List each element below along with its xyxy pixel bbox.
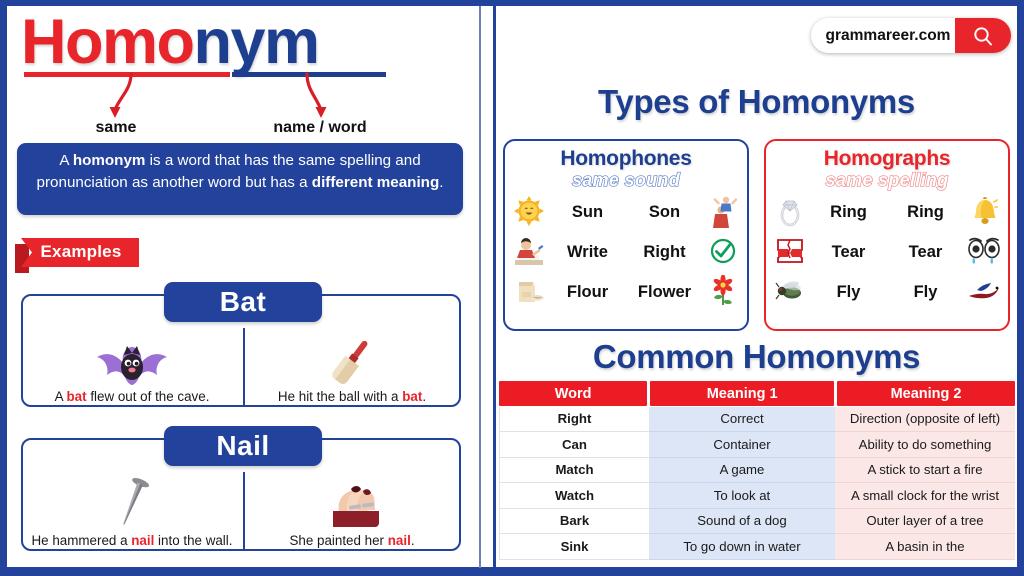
- annotation-label-same: same: [71, 119, 161, 137]
- homophones-word-left: Sun: [549, 203, 626, 222]
- homophones-heading: Homophones: [505, 147, 747, 171]
- torn-paper-icon: [770, 237, 810, 269]
- table-cell-meaning2: A basin in the: [835, 534, 1015, 560]
- homographs-word-left: Fly: [810, 283, 887, 302]
- example-bat-right: He hit the ball with a bat.: [245, 318, 459, 406]
- table-cell-word: Right: [499, 407, 649, 433]
- homophones-word-right: Son: [626, 203, 703, 222]
- table-row: Bark Sound of a dog Outer layer of a tre…: [499, 509, 1015, 535]
- ribbon-fold: [15, 244, 29, 273]
- annotation-label-name-word: name / word: [250, 119, 390, 137]
- homographs-row: Ring Ring: [766, 194, 1008, 231]
- examples-ribbon-label: Examples: [29, 242, 133, 262]
- search-icon[interactable]: [955, 18, 1011, 53]
- crying-eyes-icon: [964, 237, 1004, 269]
- metal-nail-icon: [102, 475, 162, 533]
- definition-end: .: [439, 174, 443, 191]
- table-row: Sink To go down in water A basin in the: [499, 534, 1015, 560]
- bell-icon: [964, 196, 1004, 230]
- table-cell-meaning1: To go down in water: [649, 534, 835, 560]
- table-cell-meaning2: A small clock for the wrist: [835, 483, 1015, 509]
- common-homonyms-table: Word Meaning 1 Meaning 2 Right Correct D…: [499, 381, 1015, 560]
- sun-icon: [509, 196, 549, 230]
- example-nail-right: She painted her nail.: [245, 462, 459, 550]
- sentence-post: .: [411, 533, 415, 548]
- bat-animal-icon: [95, 331, 169, 389]
- homographs-row: Fly Fly: [766, 274, 1008, 311]
- table-row: Right Correct Direction (opposite of lef…: [499, 407, 1015, 433]
- sentence-keyword: nail: [388, 533, 411, 548]
- page-title: Homonym: [21, 11, 461, 74]
- table-cell-meaning1: A game: [649, 458, 835, 484]
- table-row: Can Container Ability to do something: [499, 432, 1015, 458]
- sentence-pre: He hammered a: [32, 533, 132, 548]
- flower-icon: [703, 275, 743, 311]
- table-header-meaning2: Meaning 2: [837, 381, 1015, 406]
- left-panel: Homonym same name / word A homonym is a …: [7, 6, 479, 568]
- title-annotation-arrows: [7, 68, 479, 120]
- table-row: Match A game A stick to start a fire: [499, 458, 1015, 484]
- homographs-word-right: Ring: [887, 203, 964, 222]
- table-cell-meaning1: Container: [649, 432, 835, 458]
- example-card-bat-title: Bat: [164, 282, 322, 322]
- definition-emphasis: different meaning: [312, 174, 439, 191]
- homophones-card: Homophones same sound Sun: [503, 139, 749, 331]
- example-bat-left: A bat flew out of the cave.: [25, 318, 239, 406]
- sentence-pre: She painted her: [289, 533, 387, 548]
- table-section-title: Common Homonyms: [496, 338, 1017, 376]
- table-body: Right Correct Direction (opposite of lef…: [499, 407, 1015, 560]
- title-part-homo: Homo: [21, 7, 193, 77]
- table-cell-word: Watch: [499, 483, 649, 509]
- example-nail-left: He hammered a nail into the wall.: [25, 462, 239, 550]
- site-badge[interactable]: grammareer.com: [811, 18, 1011, 53]
- table-cell-meaning1: Correct: [649, 407, 835, 433]
- homographs-row: Tear Tear: [766, 234, 1008, 271]
- title-part-nym: nym: [193, 7, 318, 77]
- infographic-page: Homonym same name / word A homonym is a …: [0, 0, 1024, 576]
- table-cell-word: Can: [499, 432, 649, 458]
- table-cell-meaning1: To look at: [649, 483, 835, 509]
- sentence-pre: A: [55, 389, 67, 404]
- diamond-ring-icon: [770, 195, 810, 231]
- sentence-post: flew out of the cave.: [87, 389, 210, 404]
- flying-bird-icon: [964, 280, 1004, 306]
- panel-divider-thin: [479, 6, 481, 568]
- homophones-word-left: Flour: [549, 283, 626, 302]
- examples-ribbon: Examples: [15, 238, 139, 267]
- example-bat-left-sentence: A bat flew out of the cave.: [55, 389, 210, 406]
- sentence-post: into the wall.: [154, 533, 232, 548]
- table-cell-meaning1: Sound of a dog: [649, 509, 835, 535]
- sentence-pre: He hit the ball with a: [278, 389, 402, 404]
- homographs-word-right: Fly: [887, 283, 964, 302]
- table-cell-meaning2: Ability to do something: [835, 432, 1015, 458]
- definition-pre: A: [59, 152, 73, 169]
- homographs-card: Homographs same spelling Ring Ring: [764, 139, 1010, 331]
- green-check-icon: [703, 238, 743, 268]
- sentence-keyword: bat: [402, 389, 422, 404]
- table-cell-word: Bark: [499, 509, 649, 535]
- homophones-word-right: Flower: [626, 283, 703, 302]
- homographs-word-left: Tear: [810, 243, 887, 262]
- homographs-word-right: Tear: [887, 243, 964, 262]
- painted-nails-icon: [313, 475, 391, 533]
- table-header-meaning1: Meaning 1: [650, 381, 834, 406]
- homophones-row: Flour Flower: [505, 274, 747, 311]
- sentence-keyword: nail: [131, 533, 154, 548]
- table-cell-word: Match: [499, 458, 649, 484]
- example-card-nail-title: Nail: [164, 426, 322, 466]
- cricket-bat-icon: [315, 331, 389, 389]
- table-header-row: Word Meaning 1 Meaning 2: [499, 381, 1015, 407]
- site-badge-label: grammareer.com: [811, 27, 955, 45]
- table-cell-meaning2: Outer layer of a tree: [835, 509, 1015, 535]
- homophones-subheading: same sound: [505, 170, 747, 191]
- homographs-word-left: Ring: [810, 203, 887, 222]
- table-row: Watch To look at A small clock for the w…: [499, 483, 1015, 509]
- homophones-row: Write Right: [505, 234, 747, 271]
- homophones-word-right: Right: [626, 243, 703, 262]
- housefly-icon: [770, 279, 810, 307]
- flour-bag-icon: [509, 276, 549, 310]
- homophones-word-left: Write: [549, 243, 626, 262]
- table-cell-word: Sink: [499, 534, 649, 560]
- types-section-title: Types of Homonyms: [496, 83, 1017, 121]
- sentence-post: .: [422, 389, 426, 404]
- homographs-subheading: same spelling: [766, 170, 1008, 191]
- definition-term: homonym: [73, 152, 146, 169]
- table-header-word: Word: [499, 381, 647, 406]
- example-bat-right-sentence: He hit the ball with a bat.: [278, 389, 426, 406]
- homographs-heading: Homographs: [766, 147, 1008, 171]
- sentence-keyword: bat: [67, 389, 87, 404]
- table-cell-meaning2: Direction (opposite of left): [835, 407, 1015, 433]
- father-and-son-icon: [703, 194, 743, 232]
- table-cell-meaning2: A stick to start a fire: [835, 458, 1015, 484]
- writing-boy-icon: [509, 236, 549, 270]
- right-panel: grammareer.com Types of Homonyms Homopho…: [496, 6, 1017, 568]
- definition-box: A homonym is a word that has the same sp…: [17, 143, 463, 215]
- example-nail-right-sentence: She painted her nail.: [289, 533, 414, 550]
- example-nail-left-sentence: He hammered a nail into the wall.: [32, 533, 233, 550]
- homophones-row: Sun Son: [505, 194, 747, 231]
